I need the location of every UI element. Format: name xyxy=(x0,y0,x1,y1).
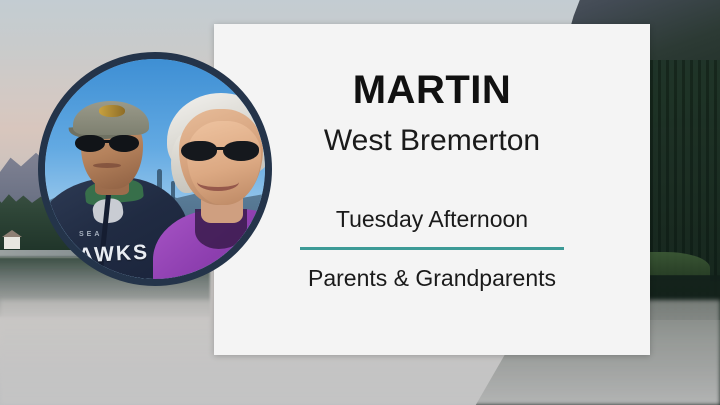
page-title: MARTIN xyxy=(353,70,512,110)
photo-woman-glasses-bridge xyxy=(216,147,225,150)
photo-man-hoodie-text: HAWKS xyxy=(60,241,149,270)
avatar: SEA HAWKS xyxy=(38,52,272,286)
photo-woman-smile xyxy=(197,173,239,191)
slide-canvas: MARTIN West Bremerton Tuesday Afternoon … xyxy=(0,0,720,405)
photo-woman-sunglasses xyxy=(181,141,265,161)
divider xyxy=(300,247,564,250)
info-card: MARTIN West Bremerton Tuesday Afternoon … xyxy=(214,24,650,355)
timeslot-label: Tuesday Afternoon xyxy=(336,208,528,231)
photo-woman-lens-left xyxy=(181,141,217,161)
photo-man-glasses-bridge xyxy=(104,140,111,143)
background-house xyxy=(4,236,20,249)
photo-man-hoodie-small-text: SEA xyxy=(79,231,102,238)
photo-man-lens-left xyxy=(75,135,105,152)
photo-man-mouth xyxy=(93,163,121,168)
location-subtitle: West Bremerton xyxy=(324,126,540,156)
photo-woman-button xyxy=(242,255,250,263)
avatar-photo: SEA HAWKS xyxy=(45,59,265,279)
photo-woman-lens-right xyxy=(223,141,259,161)
photo-man-cap-logo xyxy=(99,105,125,117)
photo-man-sunglasses xyxy=(73,135,147,152)
category-label: Parents & Grandparents xyxy=(308,267,556,290)
photo-man-lens-right xyxy=(109,135,139,152)
